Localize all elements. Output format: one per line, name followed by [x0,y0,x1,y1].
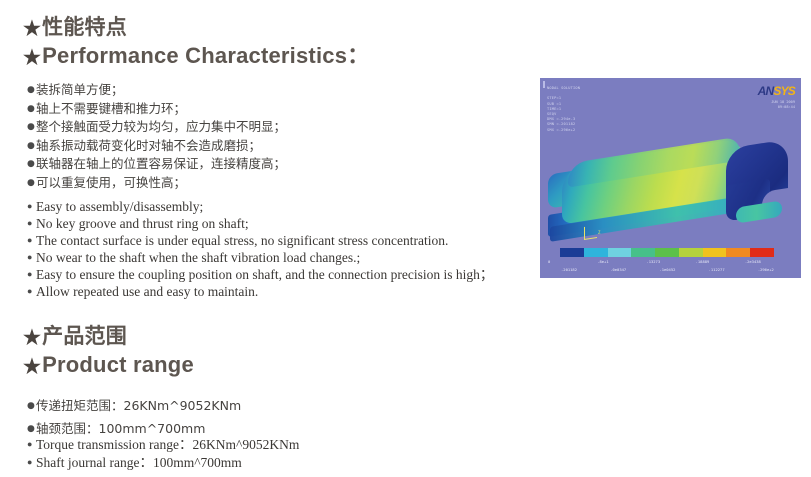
product-range-bullets-en: ●Torque transmission range：26KNm^9052KNm… [27,436,299,472]
star-icon: ★ [23,328,41,348]
legend-labels-upper: 0 .8e+1 .13273 .18889 .2e3438 [548,259,794,264]
list-item: ●No key groove and thrust ring on shaft; [27,215,493,232]
legend-label: .0e0347 [597,267,646,272]
bullet-icon: ● [27,236,36,245]
bullet-icon: ● [27,86,36,95]
legend-label: 0 [548,259,597,264]
legend-label: .8e+1 [597,259,646,264]
performance-heading-en: ★Performance Characteristics： [23,41,369,71]
list-item: ●装拆简单方便； [27,81,286,100]
list-item: ●Easy to ensure the coupling position on… [27,266,493,283]
ansys-fea-figure: ANSYS NODAL SOLUTION STEP=1 SUB =1 TIME=… [540,78,801,278]
bullet-icon: ● [27,402,36,411]
model-axis-triad-icon [584,225,597,240]
product-range-heading-en: ★Product range [23,350,194,380]
star-icon: ★ [23,48,41,68]
product-range-bullets-cn: ●传递扭矩范围：26KNm^9052KNm ●轴颈范围：100mm^700mm [27,394,241,440]
legend-segment [703,248,727,257]
bullet-icon: ● [27,179,36,188]
bullet-icon: ● [27,160,36,169]
legend-segment [679,248,703,257]
bullet-icon: ● [27,458,36,467]
legend-segment [608,248,632,257]
list-item: ●可以重复使用，可换性高； [27,174,286,193]
legend-label: .201182 [548,267,597,272]
bullet-icon: ● [27,253,36,262]
list-item: ●联轴器在轴上的位置容易保证，连接精度高； [27,155,286,174]
legend-label: .18889 [696,259,745,264]
legend-label: .13273 [646,259,695,264]
legend-segment [560,248,584,257]
legend-label: .112277 [696,267,745,272]
legend-label: .2e3438 [745,259,794,264]
list-item: ●传递扭矩范围：26KNm^9052KNm [27,394,241,417]
performance-heading-cn: ★性能特点 [23,14,369,41]
legend-segment [631,248,655,257]
star-icon: ★ [23,357,41,377]
legend-labels-lower: .201182 .0e0347 .1e0452 .112277 .296e+2 [548,267,794,272]
legend-segment [584,248,608,257]
legend-segment [750,248,774,257]
bullet-icon: ● [27,219,36,228]
performance-heading-block: ★性能特点 ★Performance Characteristics： [23,14,369,71]
bullet-icon: ● [27,287,36,296]
list-item: ●Torque transmission range：26KNm^9052KNm [27,436,299,454]
product-range-heading-block: ★产品范围 ★Product range [23,323,194,380]
list-item: ●Easy to assembly/disassembly; [27,198,493,215]
bullet-icon: ● [27,142,36,151]
list-item: ●Allow repeated use and easy to maintain… [27,283,493,300]
list-item: ●The contact surface is under equal stre… [27,232,493,249]
bullet-icon: ● [27,270,36,279]
legend-label: .1e0452 [646,267,695,272]
bullet-icon: ● [27,425,36,434]
fea-color-legend [560,248,774,257]
bullet-icon: ● [27,105,36,114]
list-item: ●Shaft journal range：100mm^700mm [27,454,299,472]
performance-bullets-en: ●Easy to assembly/disassembly; ●No key g… [27,198,493,300]
product-range-heading-cn: ★产品范围 [23,323,194,350]
legend-segment [726,248,750,257]
list-item: ●轴系振动载荷变化时对轴不会造成磨损； [27,137,286,156]
list-item: ●轴上不需要键槽和推力环； [27,100,286,119]
slide-page: ★性能特点 ★Performance Characteristics： ●装拆简… [0,0,811,477]
legend-label: .296e+2 [745,267,794,272]
bullet-icon: ● [27,202,36,211]
model-axis-label: Z [598,230,600,235]
star-icon: ★ [23,19,41,39]
performance-bullets-cn: ●装拆简单方便； ●轴上不需要键槽和推力环； ●整个接触面受力较为均匀，应力集中… [27,81,286,192]
bullet-icon: ● [27,440,36,449]
list-item: ●No wear to the shaft when the shaft vib… [27,249,493,266]
legend-segment [655,248,679,257]
list-item: ●整个接触面受力较为均匀，应力集中不明显； [27,118,286,137]
bullet-icon: ● [27,123,36,132]
